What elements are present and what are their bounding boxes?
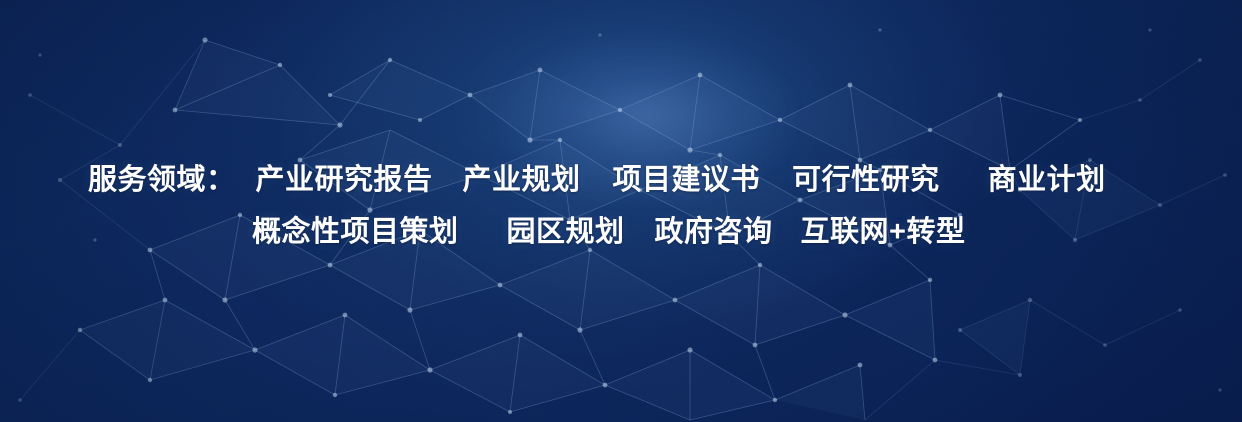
service-line-1: 服务领域：产业研究报告产业规划项目建议书可行性研究商业计划 — [88, 166, 1106, 195]
background-vignette — [0, 0, 1242, 422]
service-item-park-planning[interactable]: 园区规划 — [507, 218, 625, 247]
service-item-government-consulting[interactable]: 政府咨询 — [655, 218, 773, 247]
service-line-2: 概念性项目策划园区规划政府咨询互联网+转型 — [252, 218, 965, 247]
service-item-industry-planning[interactable]: 产业规划 — [463, 166, 581, 195]
service-item-business-plan[interactable]: 商业计划 — [988, 166, 1106, 195]
service-item-feasibility-study[interactable]: 可行性研究 — [792, 166, 940, 195]
service-item-internet-plus-transformation[interactable]: 互联网+转型 — [801, 218, 966, 247]
service-item-conceptual-project-planning[interactable]: 概念性项目策划 — [252, 218, 459, 247]
service-item-project-proposal[interactable]: 项目建议书 — [613, 166, 761, 195]
service-scope-banner: 服务领域：产业研究报告产业规划项目建议书可行性研究商业计划 概念性项目策划园区规… — [0, 0, 1242, 422]
service-item-industry-research-report[interactable]: 产业研究报告 — [256, 166, 433, 195]
service-scope-label: 服务领域： — [88, 164, 236, 196]
